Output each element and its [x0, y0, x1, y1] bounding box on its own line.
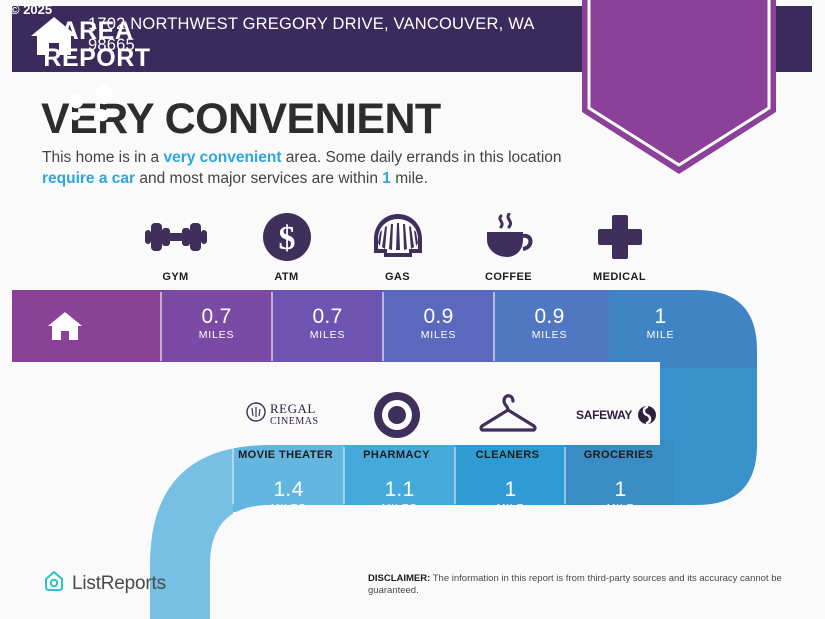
house-icon	[30, 16, 78, 56]
amenity-label-groceries: GROCERIES	[584, 449, 654, 461]
summary-text-2: area. Some daily errands in this locatio…	[282, 149, 562, 166]
amenity-gym: GYM	[120, 212, 231, 283]
coffee-cup-icon	[483, 212, 535, 262]
listreports-brand-text: ListReports	[72, 573, 166, 595]
disclaimer-text: The information in this report is from t…	[368, 573, 782, 596]
svg-text:SAFEWAY: SAFEWAY	[576, 408, 632, 422]
svg-text:CINEMAS: CINEMAS	[270, 416, 319, 427]
medical-cross-icon	[597, 212, 643, 262]
amenity-groceries: SAFEWAY GROCERIES	[563, 390, 674, 461]
amenity-cleaners: CLEANERS	[452, 390, 563, 461]
amenity-label-movie-theater: MOVIE THEATER	[238, 449, 333, 461]
svg-text:REGAL: REGAL	[270, 401, 316, 416]
clothes-hanger-icon	[477, 390, 539, 440]
bullseye-target-icon	[373, 390, 421, 440]
amenity-label-gas: GAS	[385, 271, 410, 283]
summary-text-3: and most major services are within	[135, 170, 382, 187]
listreports-brand[interactable]: ListReports	[43, 570, 166, 597]
amenity-movie-theater: REGAL CINEMAS MOVIE THEATER	[230, 390, 341, 461]
dollar-circle-icon: $	[263, 212, 311, 262]
amenity-pharmacy: PHARMACY	[341, 390, 452, 461]
safeway-logo-icon: SAFEWAY	[576, 390, 662, 440]
summary-highlight-3: 1	[382, 170, 391, 187]
amenity-label-medical: MEDICAL	[593, 271, 646, 283]
disclaimer-label: DISCLAIMER:	[368, 573, 430, 584]
amenity-label-coffee: COFFEE	[485, 271, 532, 283]
segment-fill-medical	[494, 290, 609, 363]
amenity-atm: $ ATM	[231, 212, 342, 283]
summary-text-4: mile.	[391, 170, 428, 187]
area-report-badge	[582, 0, 776, 174]
property-address: 1702 NORTHWEST GREGORY DRIVE, VANCOUVER,…	[88, 14, 558, 56]
amenity-label-cleaners: CLEANERS	[476, 449, 540, 461]
segment-fill-coffee	[383, 290, 494, 363]
listreports-house-logo-icon	[43, 570, 65, 597]
segment-fill-gym	[12, 290, 161, 363]
footprints-icon	[67, 82, 127, 128]
regal-cinemas-logo-icon: REGAL CINEMAS	[246, 390, 326, 440]
disclaimer: DISCLAIMER: The information in this repo…	[368, 573, 788, 597]
summary-description: This home is in a very convenient area. …	[42, 147, 587, 189]
segment-fill-atm	[161, 290, 272, 363]
amenity-label-gym: GYM	[162, 271, 188, 283]
segment-fill-gas	[272, 290, 383, 363]
ribbon-home-icon	[47, 310, 83, 342]
amenity-row-2: REGAL CINEMAS MOVIE THEATER PHARMACY	[230, 390, 735, 461]
summary-highlight-2: require a car	[42, 170, 135, 187]
dumbbell-icon	[145, 212, 207, 262]
area-report-page: 0.7 MILES 0.7 MILES 0.9 MILES 0.9 MILES …	[0, 0, 825, 619]
amenity-label-pharmacy: PHARMACY	[363, 449, 430, 461]
amenity-coffee: COFFEE	[453, 212, 564, 283]
copyright-notice: © 2025	[10, 2, 52, 17]
amenity-row-1: GYM $ ATM	[120, 212, 740, 283]
svg-text:$: $	[278, 220, 295, 257]
amenity-label-atm: ATM	[274, 271, 298, 283]
amenity-gas: GAS	[342, 212, 453, 283]
amenity-medical: MEDICAL	[564, 212, 675, 283]
shell-logo-icon	[372, 212, 424, 262]
summary-text-1: This home is in a	[42, 149, 163, 166]
summary-highlight-1: very convenient	[163, 149, 281, 166]
